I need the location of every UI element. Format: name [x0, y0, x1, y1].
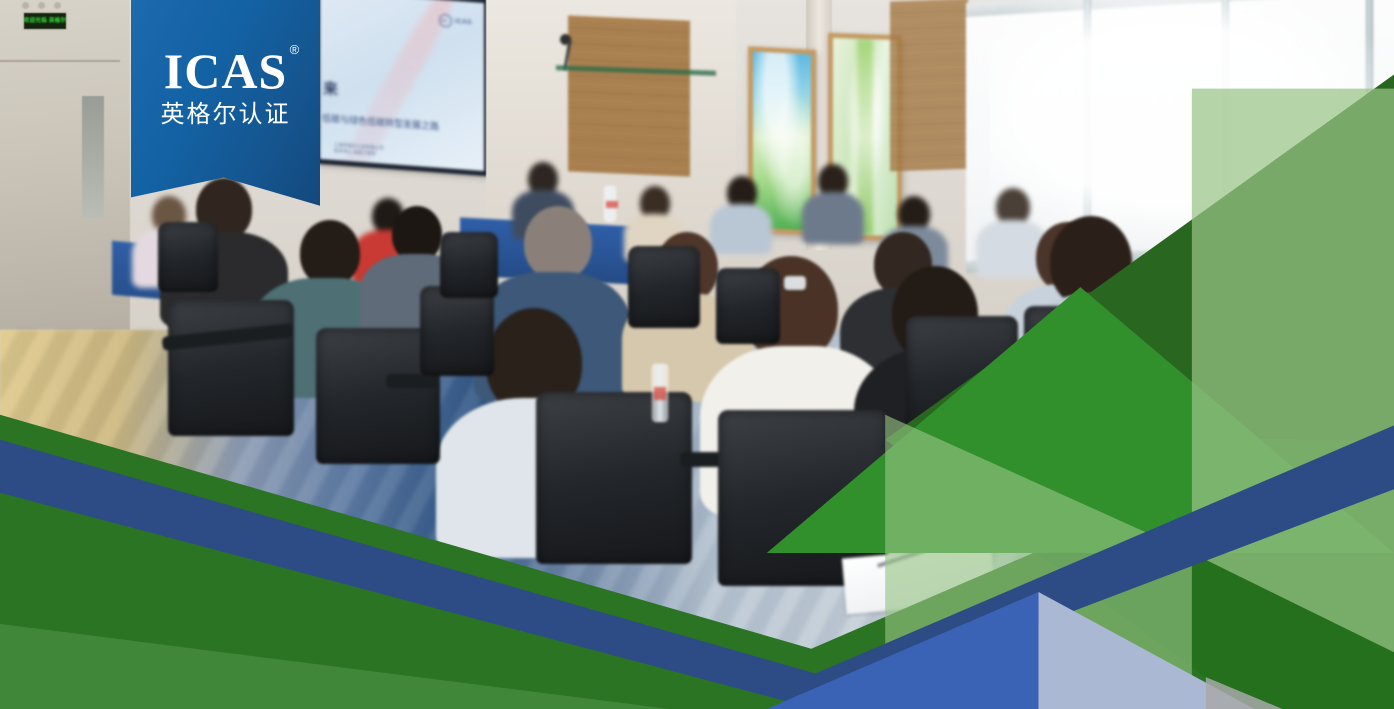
window-mullion [1366, 0, 1373, 249]
circle-mark-icon [439, 14, 452, 28]
slide-footnote: 上海英格尔认证有限公司 技术中心 高级工程师 [334, 142, 384, 158]
slide-title: 来 [323, 77, 338, 99]
slide-logo: ICAS [439, 14, 472, 29]
person-head [300, 220, 360, 286]
chair-backrest [716, 268, 780, 344]
icas-seminar-banner: 欢迎光临 英格尔 ICAS 来 低碳与绿色低碳转型发展之路 上海英格尔认证有限公… [0, 0, 1394, 709]
chair-backrest [168, 300, 294, 436]
chair-backrest [440, 232, 498, 298]
chair-backrest [158, 222, 218, 292]
led-sign-text: 欢迎光临 英格尔 [24, 18, 66, 24]
hair-clip [784, 276, 806, 290]
chair-backrest [536, 392, 692, 564]
water-bottle [652, 364, 668, 422]
led-sign-mount [22, 2, 29, 9]
person-head [524, 206, 592, 280]
door-glass-slot [82, 96, 104, 218]
person-torso [802, 192, 864, 244]
icas-chinese-name: 英格尔认证 [161, 102, 291, 128]
wall-seam [0, 60, 120, 62]
chair-backrest [420, 286, 494, 376]
icas-wordmark: ICAS ® [164, 46, 287, 96]
led-display-sign: 欢迎光临 英格尔 [22, 11, 68, 31]
chair-backrest [1024, 306, 1132, 428]
left-wall-column: 欢迎光临 英格尔 [0, 0, 130, 330]
tablet-device [1195, 298, 1264, 346]
paper-stack [954, 472, 1130, 542]
window-mullion [1222, 0, 1229, 258]
window-blinds-right [890, 0, 968, 171]
icas-wordmark-text: ICAS [164, 43, 287, 99]
led-sign-mount [38, 2, 45, 9]
registered-trademark-icon: ® [290, 43, 301, 56]
window-blinds-left [568, 15, 690, 176]
chair-backrest [628, 246, 700, 328]
projection-screen: ICAS 来 低碳与绿色低碳转型发展之路 上海英格尔认证有限公司 技术中心 高级… [316, 0, 488, 176]
projection-screen-surface: ICAS 来 低碳与绿色低碳转型发展之路 上海英格尔认证有限公司 技术中心 高级… [320, 0, 484, 171]
slide-logo-text: ICAS [455, 18, 472, 26]
chair-backrest [906, 316, 1018, 440]
led-sign-mount [54, 2, 61, 9]
window-header [966, 0, 1394, 17]
chair-armrest [386, 374, 438, 388]
water-bottle [604, 186, 616, 222]
person-torso [710, 204, 772, 254]
